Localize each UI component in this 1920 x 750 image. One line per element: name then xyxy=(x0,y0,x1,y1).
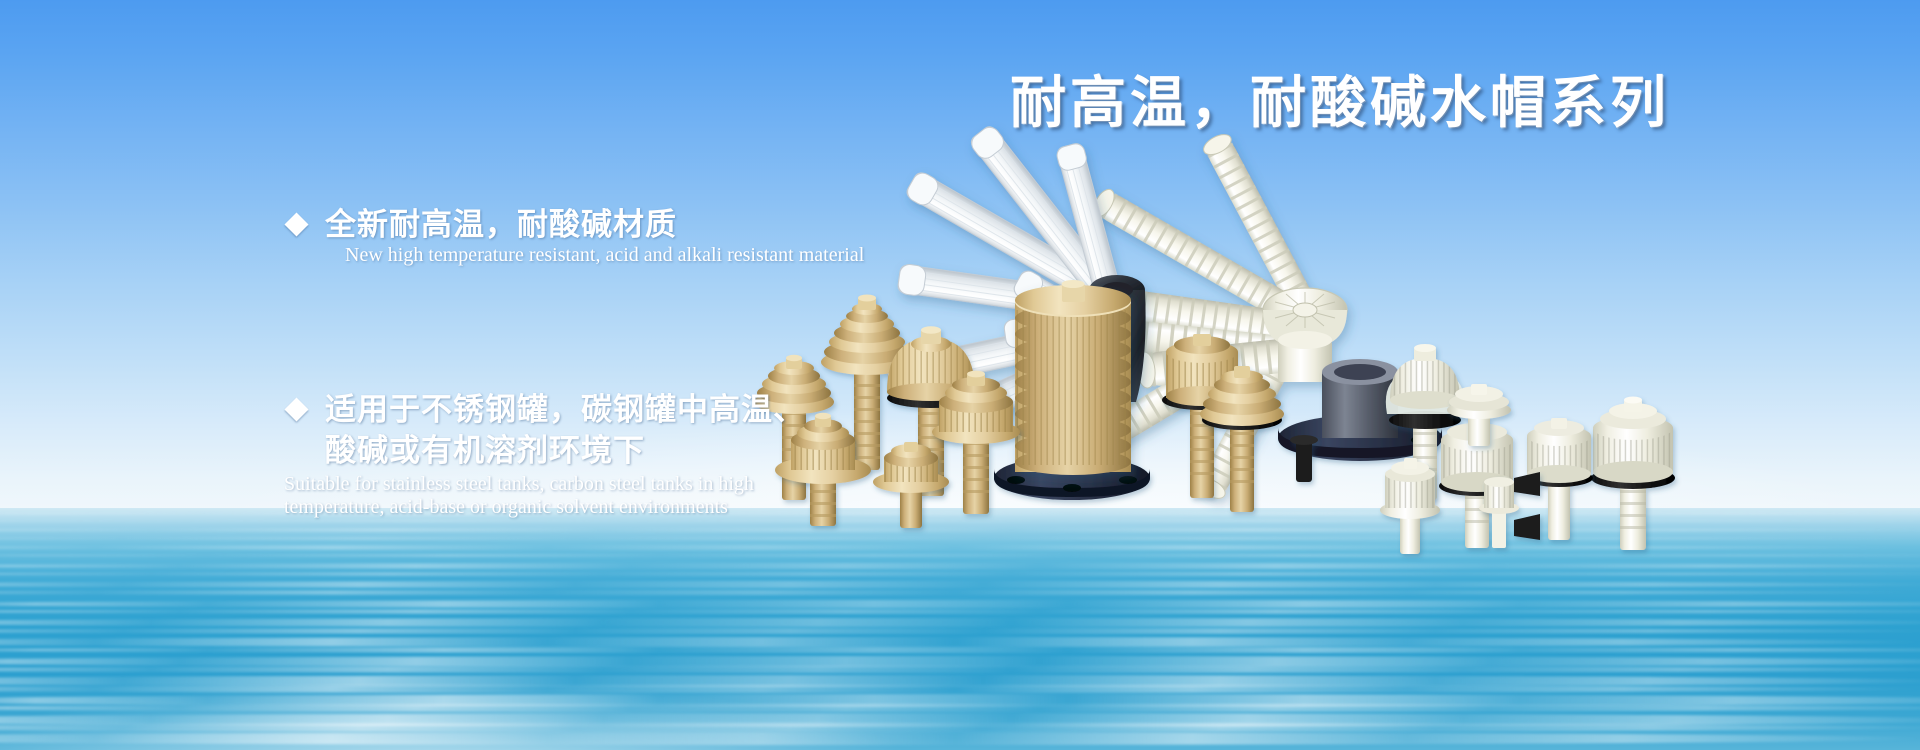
feature-bullet-1-en: New high temperature resistant, acid and… xyxy=(345,244,864,268)
diamond-bullet-icon xyxy=(284,212,308,236)
feature-bullet-1: 全新耐高温，耐酸碱材质 New high temperature resista… xyxy=(288,205,864,268)
diamond-bullet-icon xyxy=(284,397,308,421)
feature-bullet-1-cn: 全新耐高温，耐酸碱材质 xyxy=(325,205,677,246)
feature-bullet-2: 适用于不锈钢罐，碳钢罐中高温、 酸碱或有机溶剂环境下 Suitable for … xyxy=(288,390,805,520)
sea-background xyxy=(0,508,1920,750)
product-banner: 耐高温，耐酸碱水帽系列 全新耐高温，耐酸碱材质 New high tempera… xyxy=(0,0,1920,750)
water-glint xyxy=(0,600,1920,750)
feature-bullet-2-en: Suitable for stainless steel tanks, carb… xyxy=(284,473,805,520)
page-title: 耐高温，耐酸碱水帽系列 xyxy=(1010,58,1670,139)
feature-bullet-2-cn: 适用于不锈钢罐，碳钢罐中高温、 酸碱或有机溶剂环境下 xyxy=(325,390,805,472)
